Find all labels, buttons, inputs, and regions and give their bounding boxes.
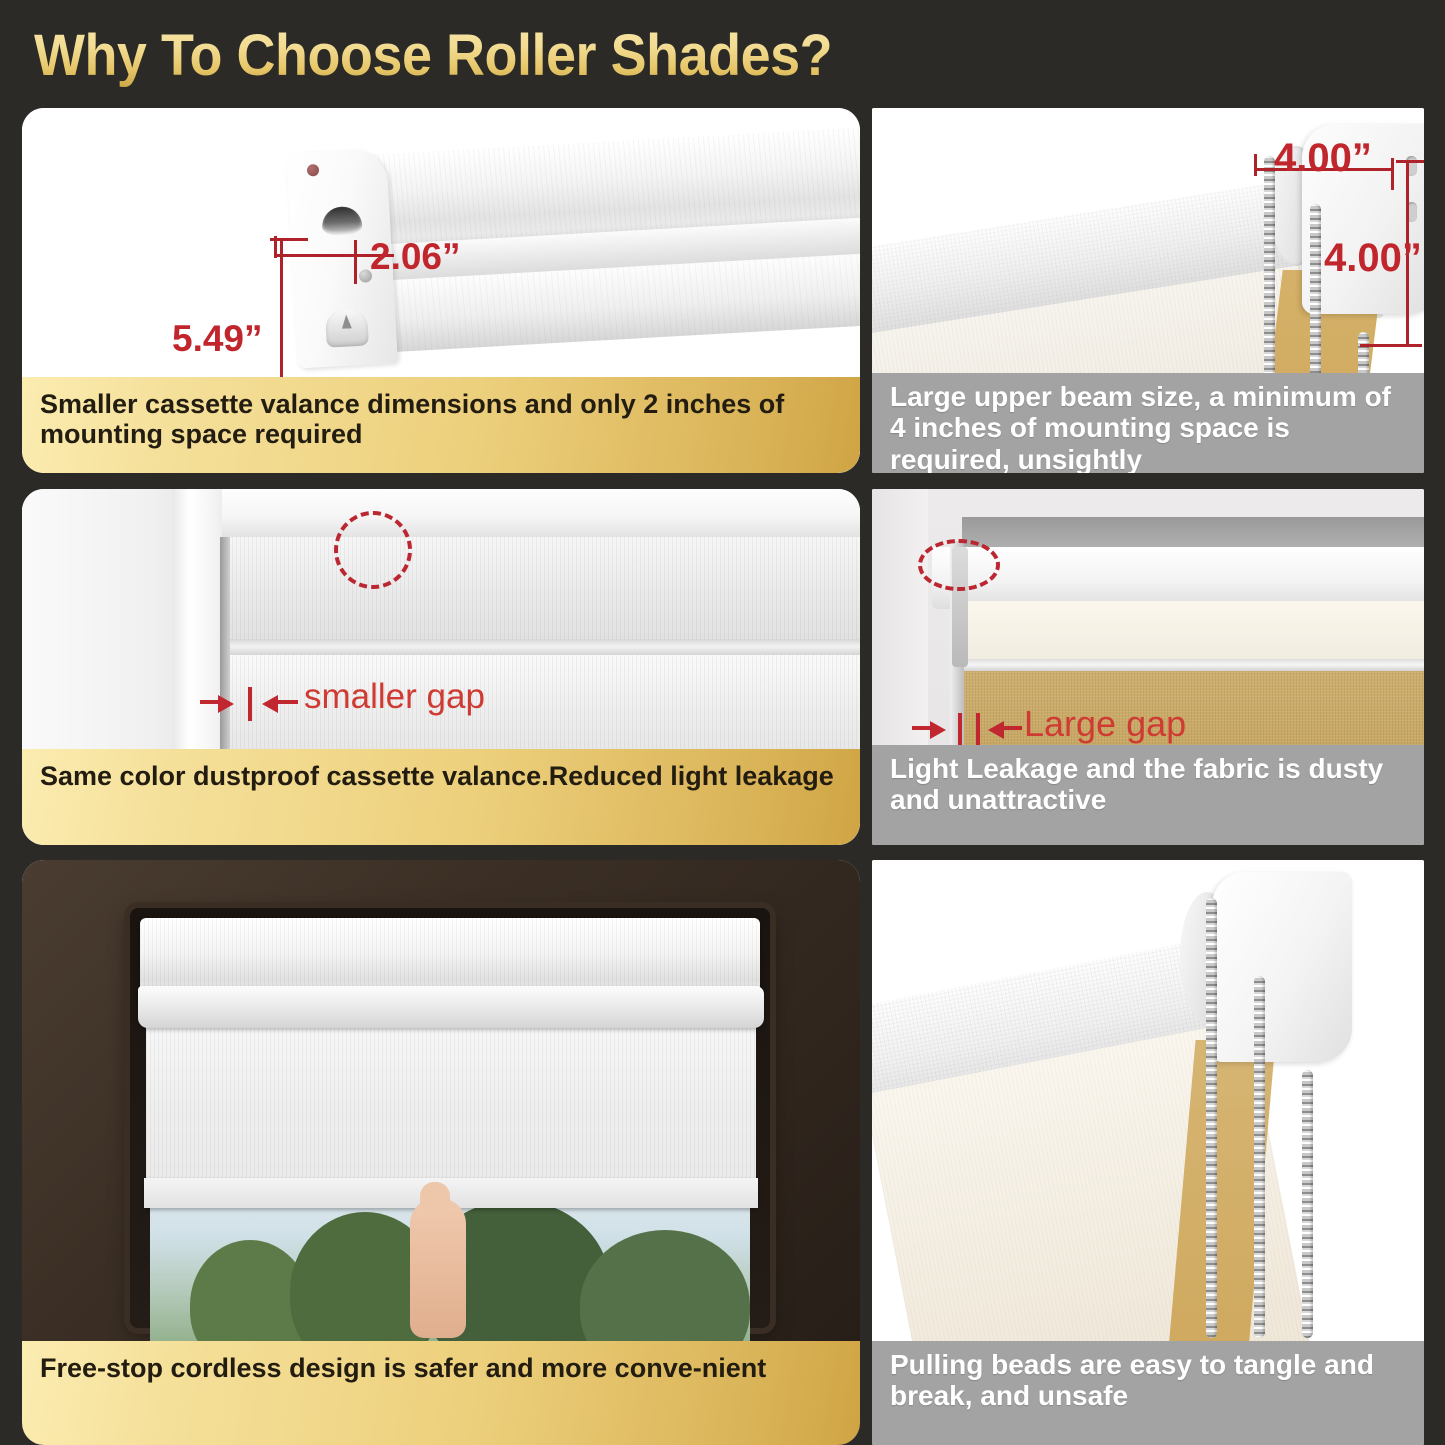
bead-chain-back (1302, 1070, 1313, 1338)
gap-arrow-left-icon (218, 695, 234, 713)
panel-pulling-beads: Pulling beads are easy to tangle and bre… (872, 860, 1424, 1445)
beam-height-tick-top (1396, 160, 1424, 163)
shade-left-edge (220, 537, 230, 767)
caption-pulling-beads: Pulling beads are easy to tangle and bre… (872, 1341, 1424, 1445)
shade-fabric (146, 1024, 756, 1204)
hand-pulling-shade (410, 1198, 466, 1338)
end-cap-slot (321, 206, 363, 236)
panel-free-stop-cordless: Free-stop cordless design is safer and m… (22, 860, 860, 1445)
bead-chain-front (1206, 898, 1217, 1338)
width-dim-tick-right (354, 240, 357, 284)
gap-arrow-left-line (200, 700, 220, 704)
panel-light-leakage: Large gap Light Leakage and the fabric i… (872, 489, 1424, 845)
highlight-circle-icon (334, 511, 412, 589)
gap-marker-bar-outer (958, 713, 962, 745)
caption-cassette-valance-dimensions: Smaller cassette valance dimensions and … (22, 377, 860, 473)
fabric-cream-band (960, 601, 1424, 663)
shade-panel-upper (224, 537, 860, 642)
window-header (222, 489, 860, 538)
tree-foliage (580, 1230, 750, 1350)
highlight-circle-icon (918, 539, 1000, 591)
panel-dustproof-cassette-valance: smaller gap Same color dustproof cassett… (22, 489, 860, 845)
caption-large-upper-beam: Large upper beam size, a minimum of 4 in… (872, 373, 1424, 473)
panel-large-upper-beam: 4.00” 4.00” Large upper beam size, a min… (872, 108, 1424, 473)
height-dim-label: 5.49” (172, 318, 263, 360)
end-cap-knob (325, 307, 369, 347)
cassette-front-lip (138, 986, 764, 1028)
caption-light-leakage: Light Leakage and the fabric is dusty an… (872, 745, 1424, 845)
gap-arrow-right-icon (262, 695, 278, 713)
caption-free-stop-cordless: Free-stop cordless design is safer and m… (22, 1341, 860, 1445)
cassette-valance (140, 918, 760, 996)
bead-chain-middle (1254, 976, 1265, 1338)
caption-dustproof-cassette-valance: Same color dustproof cassette valance.Re… (22, 749, 860, 845)
mounting-bracket (1212, 872, 1352, 1062)
gap-callout-label: Large gap (1024, 703, 1186, 745)
comparison-grid: 2.06” 5.49” Smaller cassette valance dim… (0, 108, 1445, 1445)
beam-width-tick-left (1254, 154, 1257, 176)
gap-callout-label: smaller gap (304, 677, 485, 717)
height-dim-tick-top (270, 238, 308, 241)
roller-tube-white (932, 547, 1424, 609)
gap-arrow-right-icon (988, 721, 1004, 739)
gap-arrow-right-line (1002, 726, 1022, 730)
wall-surface (872, 489, 928, 749)
beam-height-label: 4.00” (1324, 236, 1422, 281)
width-dim-label: 2.06” (370, 236, 461, 278)
panel-cassette-valance-dimensions: 2.06” 5.49” Smaller cassette valance dim… (22, 108, 860, 473)
page-title: Why To Choose Roller Shades? (34, 22, 832, 89)
gap-arrow-left-icon (930, 721, 946, 739)
beam-width-tick-right (1391, 158, 1394, 190)
gap-marker-bar-inner (976, 713, 980, 745)
beam-height-tick-bottom (1360, 344, 1422, 347)
beam-width-label: 4.00” (1274, 136, 1372, 181)
gap-arrow-right-line (276, 700, 298, 704)
end-cap-screw-top (307, 164, 320, 177)
gap-arrow-left-line (912, 726, 932, 730)
gap-marker-bar (248, 687, 252, 721)
